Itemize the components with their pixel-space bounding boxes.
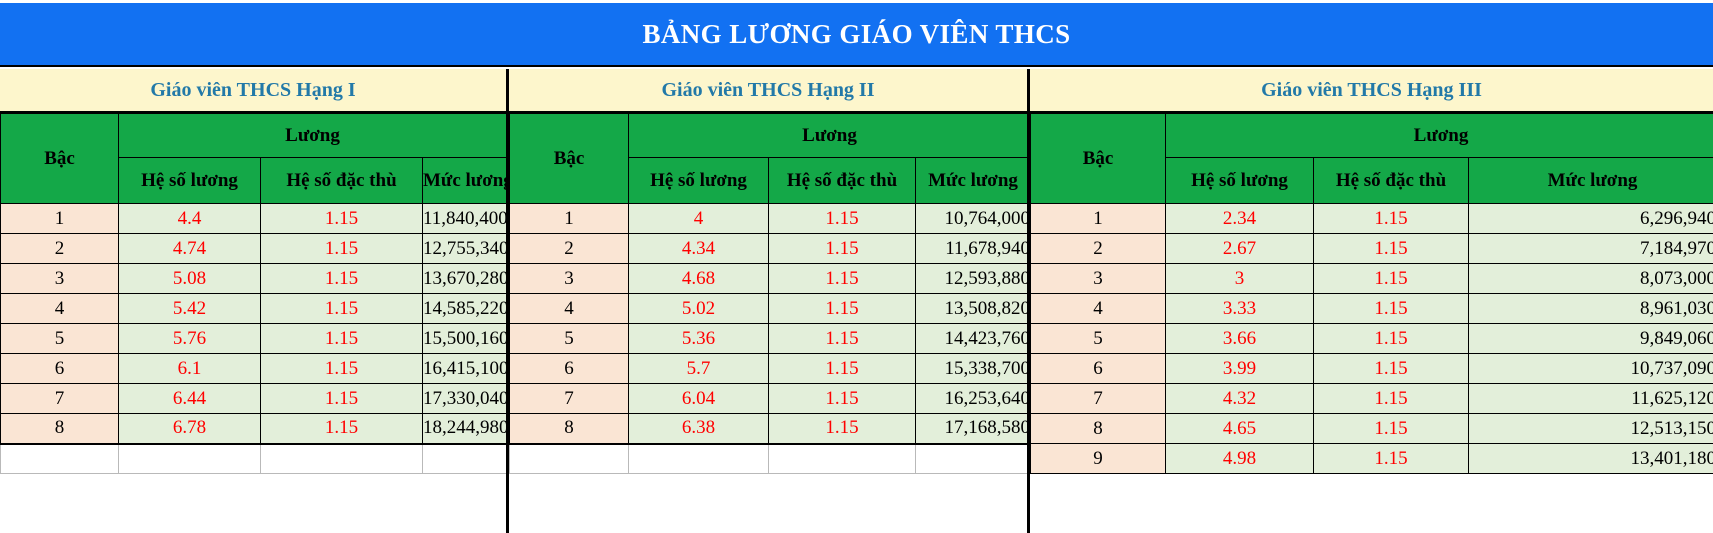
cell-he-so-dac-thu: 1.15: [1314, 384, 1469, 414]
cell-muc-luong: 12,593,880: [916, 264, 1031, 294]
rank-block-hang-i: Giáo viên THCS Hạng I Bậc Lương Hệ số lư…: [0, 69, 506, 533]
cell-he-so-dac-thu: 1.15: [769, 294, 916, 324]
cell-bac: 2: [1, 234, 119, 264]
table-row: 43.331.158,961,030: [1031, 294, 1713, 324]
cell-he-so-dac-thu: 1.15: [1314, 414, 1469, 444]
cell-he-so-luong: [629, 444, 769, 474]
table-row: 55.761.1515,500,160: [1, 324, 507, 354]
col-header-he-so-luong: Hệ số lương: [629, 158, 769, 204]
col-header-he-so-luong: Hệ số lương: [119, 158, 261, 204]
cell-muc-luong: 12,513,150: [1469, 414, 1713, 444]
table-row: 12.341.156,296,940: [1031, 204, 1713, 234]
cell-he-so-dac-thu: 1.15: [1314, 294, 1469, 324]
cell-muc-luong: 18,244,980: [423, 414, 507, 444]
table-row: 45.421.1514,585,220: [1, 294, 507, 324]
cell-he-so-dac-thu: 1.15: [1314, 204, 1469, 234]
table-row: 24.741.1512,755,340: [1, 234, 507, 264]
cell-he-so-dac-thu: 1.15: [261, 414, 423, 444]
cell-muc-luong: 12,755,340: [423, 234, 507, 264]
table-row: 34.681.1512,593,880: [510, 264, 1031, 294]
cell-bac: 6: [1031, 354, 1166, 384]
salary-table-hang-i: Bậc Lương Hệ số lương Hệ số đặc thù Mức …: [0, 113, 507, 474]
table-row: 55.361.1514,423,760: [510, 324, 1031, 354]
table-body: 12.341.156,296,94022.671.157,184,970331.…: [1031, 204, 1713, 474]
cell-he-so-dac-thu: 1.15: [769, 264, 916, 294]
cell-muc-luong: 8,961,030: [1469, 294, 1713, 324]
cell-bac: 3: [510, 264, 629, 294]
cell-muc-luong: 11,840,400: [423, 204, 507, 234]
cell-muc-luong: 7,184,970: [1469, 234, 1713, 264]
rank-block-hang-iii: Giáo viên THCS Hạng III Bậc Lương Hệ số …: [1027, 69, 1713, 533]
cell-bac: 8: [1, 414, 119, 444]
cell-he-so-dac-thu: 1.15: [1314, 324, 1469, 354]
cell-muc-luong: 16,253,640: [916, 384, 1031, 414]
cell-muc-luong: 11,678,940: [916, 234, 1031, 264]
cell-muc-luong: 11,625,120: [1469, 384, 1713, 414]
col-header-he-so-dac-thu: Hệ số đặc thù: [769, 158, 916, 204]
cell-muc-luong: 13,401,180: [1469, 444, 1713, 474]
cell-he-so-dac-thu: 1.15: [1314, 444, 1469, 474]
rank-block-hang-ii: Giáo viên THCS Hạng II Bậc Lương Hệ số l…: [506, 69, 1027, 533]
table-row: 35.081.1513,670,280: [1, 264, 507, 294]
cell-he-so-luong: 4: [629, 204, 769, 234]
cell-he-so-luong: [119, 444, 261, 474]
cell-he-so-dac-thu: 1.15: [261, 204, 423, 234]
table-header: Bậc Lương Hệ số lương Hệ số đặc thù Mức …: [510, 114, 1031, 204]
cell-bac: 6: [1, 354, 119, 384]
cell-he-so-dac-thu: 1.15: [769, 324, 916, 354]
cell-he-so-dac-thu: 1.15: [769, 204, 916, 234]
cell-bac: 2: [510, 234, 629, 264]
table-row: 24.341.1511,678,940: [510, 234, 1031, 264]
cell-muc-luong: 9,849,060: [1469, 324, 1713, 354]
cell-he-so-dac-thu: [261, 444, 423, 474]
table-header: Bậc Lương Hệ số lương Hệ số đặc thù Mức …: [1, 114, 507, 204]
cell-he-so-dac-thu: 1.15: [261, 354, 423, 384]
table-row: 76.441.1517,330,040: [1, 384, 507, 414]
cell-muc-luong: [423, 444, 507, 474]
table-row: 14.41.1511,840,400: [1, 204, 507, 234]
table-row: 331.158,073,000: [1031, 264, 1713, 294]
cell-bac: [1, 444, 119, 474]
table-row: 45.021.1513,508,820: [510, 294, 1031, 324]
cell-muc-luong: 16,415,100: [423, 354, 507, 384]
cell-he-so-dac-thu: 1.15: [1314, 354, 1469, 384]
col-header-muc-luong: Mức lương: [916, 158, 1031, 204]
cell-he-so-luong: 2.67: [1166, 234, 1314, 264]
cell-bac: 5: [510, 324, 629, 354]
cell-bac: 7: [1, 384, 119, 414]
cell-he-so-dac-thu: 1.15: [261, 264, 423, 294]
cell-he-so-luong: 6.38: [629, 414, 769, 444]
cell-muc-luong: 8,073,000: [1469, 264, 1713, 294]
cell-he-so-luong: 6.78: [119, 414, 261, 444]
cell-he-so-luong: 3.66: [1166, 324, 1314, 354]
rank-header-hang-iii: Giáo viên THCS Hạng III: [1030, 69, 1713, 113]
cell-he-so-luong: 4.74: [119, 234, 261, 264]
cell-he-so-luong: 5.08: [119, 264, 261, 294]
cell-he-so-dac-thu: 1.15: [769, 234, 916, 264]
cell-he-so-luong: 2.34: [1166, 204, 1314, 234]
cell-he-so-dac-thu: 1.15: [261, 384, 423, 414]
cell-bac: 9: [1031, 444, 1166, 474]
cell-he-so-luong: 4.4: [119, 204, 261, 234]
col-header-bac: Bậc: [510, 114, 629, 204]
cell-he-so-luong: 3.99: [1166, 354, 1314, 384]
cell-bac: 4: [1, 294, 119, 324]
table-row: 53.661.159,849,060: [1031, 324, 1713, 354]
cell-bac: 4: [1031, 294, 1166, 324]
col-header-he-so-luong: Hệ số lương: [1166, 158, 1314, 204]
cell-he-so-dac-thu: 1.15: [261, 294, 423, 324]
col-header-muc-luong: Mức lương: [423, 158, 507, 204]
cell-he-so-dac-thu: 1.15: [769, 414, 916, 444]
cell-he-so-luong: 5.76: [119, 324, 261, 354]
cell-muc-luong: [916, 444, 1031, 474]
cell-bac: 3: [1031, 264, 1166, 294]
cell-muc-luong: 14,423,760: [916, 324, 1031, 354]
col-header-luong: Lương: [629, 114, 1031, 158]
table-row: 84.651.1512,513,150: [1031, 414, 1713, 444]
cell-bac: 1: [1, 204, 119, 234]
rank-header-hang-i: Giáo viên THCS Hạng I: [0, 69, 506, 113]
cell-he-so-luong: 4.65: [1166, 414, 1314, 444]
cell-bac: 1: [1031, 204, 1166, 234]
table-body: 14.41.1511,840,40024.741.1512,755,34035.…: [1, 204, 507, 474]
col-header-he-so-dac-thu: Hệ số đặc thù: [261, 158, 423, 204]
cell-he-so-luong: 3: [1166, 264, 1314, 294]
cell-muc-luong: 17,168,580: [916, 414, 1031, 444]
cell-muc-luong: 10,764,000: [916, 204, 1031, 234]
cell-bac: 6: [510, 354, 629, 384]
table-row: 74.321.1511,625,120: [1031, 384, 1713, 414]
cell-he-so-dac-thu: [769, 444, 916, 474]
table-header: Bậc Lương Hệ số lương Hệ số đặc thù Mức …: [1031, 114, 1713, 204]
table-row: 94.981.1513,401,180: [1031, 444, 1713, 474]
col-header-luong: Lương: [119, 114, 507, 158]
cell-bac: 5: [1031, 324, 1166, 354]
cell-he-so-dac-thu: 1.15: [769, 384, 916, 414]
rank-title: Giáo viên THCS Hạng III: [1261, 79, 1482, 102]
cell-bac: 7: [510, 384, 629, 414]
cell-muc-luong: 14,585,220: [423, 294, 507, 324]
cell-bac: 4: [510, 294, 629, 324]
table-body: 141.1510,764,00024.341.1511,678,94034.68…: [510, 204, 1031, 474]
cell-bac: 3: [1, 264, 119, 294]
cell-muc-luong: 10,737,090: [1469, 354, 1713, 384]
cell-he-so-luong: 5.7: [629, 354, 769, 384]
cell-muc-luong: 13,670,280: [423, 264, 507, 294]
col-header-muc-luong: Mức lương: [1469, 158, 1713, 204]
cell-he-so-luong: 3.33: [1166, 294, 1314, 324]
rank-title: Giáo viên THCS Hạng II: [661, 79, 874, 102]
cell-he-so-luong: 6.1: [119, 354, 261, 384]
salary-table-sheet: BẢNG LƯƠNG GIÁO VIÊN THCS Giáo viên THCS…: [0, 0, 1713, 533]
cell-he-so-dac-thu: 1.15: [1314, 264, 1469, 294]
cell-muc-luong: 15,338,700: [916, 354, 1031, 384]
cell-he-so-luong: 4.32: [1166, 384, 1314, 414]
table-row: 66.11.1516,415,100: [1, 354, 507, 384]
cell-he-so-dac-thu: 1.15: [769, 354, 916, 384]
cell-bac: 7: [1031, 384, 1166, 414]
cell-muc-luong: 15,500,160: [423, 324, 507, 354]
table-row-empty: [510, 444, 1031, 474]
table-row: 63.991.1510,737,090: [1031, 354, 1713, 384]
cell-he-so-luong: 5.42: [119, 294, 261, 324]
table-row: 65.71.1515,338,700: [510, 354, 1031, 384]
table-row: 86.381.1517,168,580: [510, 414, 1031, 444]
table-row: 141.1510,764,000: [510, 204, 1031, 234]
sheet-title-band: BẢNG LƯƠNG GIÁO VIÊN THCS: [0, 3, 1713, 67]
col-header-luong: Lương: [1166, 114, 1713, 158]
cell-he-so-luong: 4.98: [1166, 444, 1314, 474]
table-row: 86.781.1518,244,980: [1, 414, 507, 444]
rank-blocks-container: Giáo viên THCS Hạng I Bậc Lương Hệ số lư…: [0, 69, 1713, 533]
cell-he-so-dac-thu: 1.15: [261, 324, 423, 354]
cell-he-so-luong: 6.04: [629, 384, 769, 414]
col-header-he-so-dac-thu: Hệ số đặc thù: [1314, 158, 1469, 204]
page-title: BẢNG LƯƠNG GIÁO VIÊN THCS: [642, 19, 1070, 50]
salary-table-hang-iii: Bậc Lương Hệ số lương Hệ số đặc thù Mức …: [1030, 113, 1713, 474]
cell-he-so-luong: 6.44: [119, 384, 261, 414]
cell-he-so-dac-thu: 1.15: [1314, 234, 1469, 264]
salary-table-hang-ii: Bậc Lương Hệ số lương Hệ số đặc thù Mức …: [509, 113, 1031, 474]
col-header-bac: Bậc: [1031, 114, 1166, 204]
cell-he-so-luong: 4.68: [629, 264, 769, 294]
table-row-empty: [1, 444, 507, 474]
cell-he-so-luong: 4.34: [629, 234, 769, 264]
cell-muc-luong: 13,508,820: [916, 294, 1031, 324]
cell-he-so-luong: 5.02: [629, 294, 769, 324]
cell-he-so-dac-thu: 1.15: [261, 234, 423, 264]
cell-bac: 1: [510, 204, 629, 234]
col-header-bac: Bậc: [1, 114, 119, 204]
table-row: 22.671.157,184,970: [1031, 234, 1713, 264]
cell-muc-luong: 6,296,940: [1469, 204, 1713, 234]
cell-bac: 8: [510, 414, 629, 444]
table-row: 76.041.1516,253,640: [510, 384, 1031, 414]
cell-muc-luong: 17,330,040: [423, 384, 507, 414]
cell-he-so-luong: 5.36: [629, 324, 769, 354]
cell-bac: 8: [1031, 414, 1166, 444]
rank-header-hang-ii: Giáo viên THCS Hạng II: [509, 69, 1027, 113]
cell-bac: 2: [1031, 234, 1166, 264]
cell-bac: [510, 444, 629, 474]
cell-bac: 5: [1, 324, 119, 354]
rank-title: Giáo viên THCS Hạng I: [150, 79, 355, 102]
